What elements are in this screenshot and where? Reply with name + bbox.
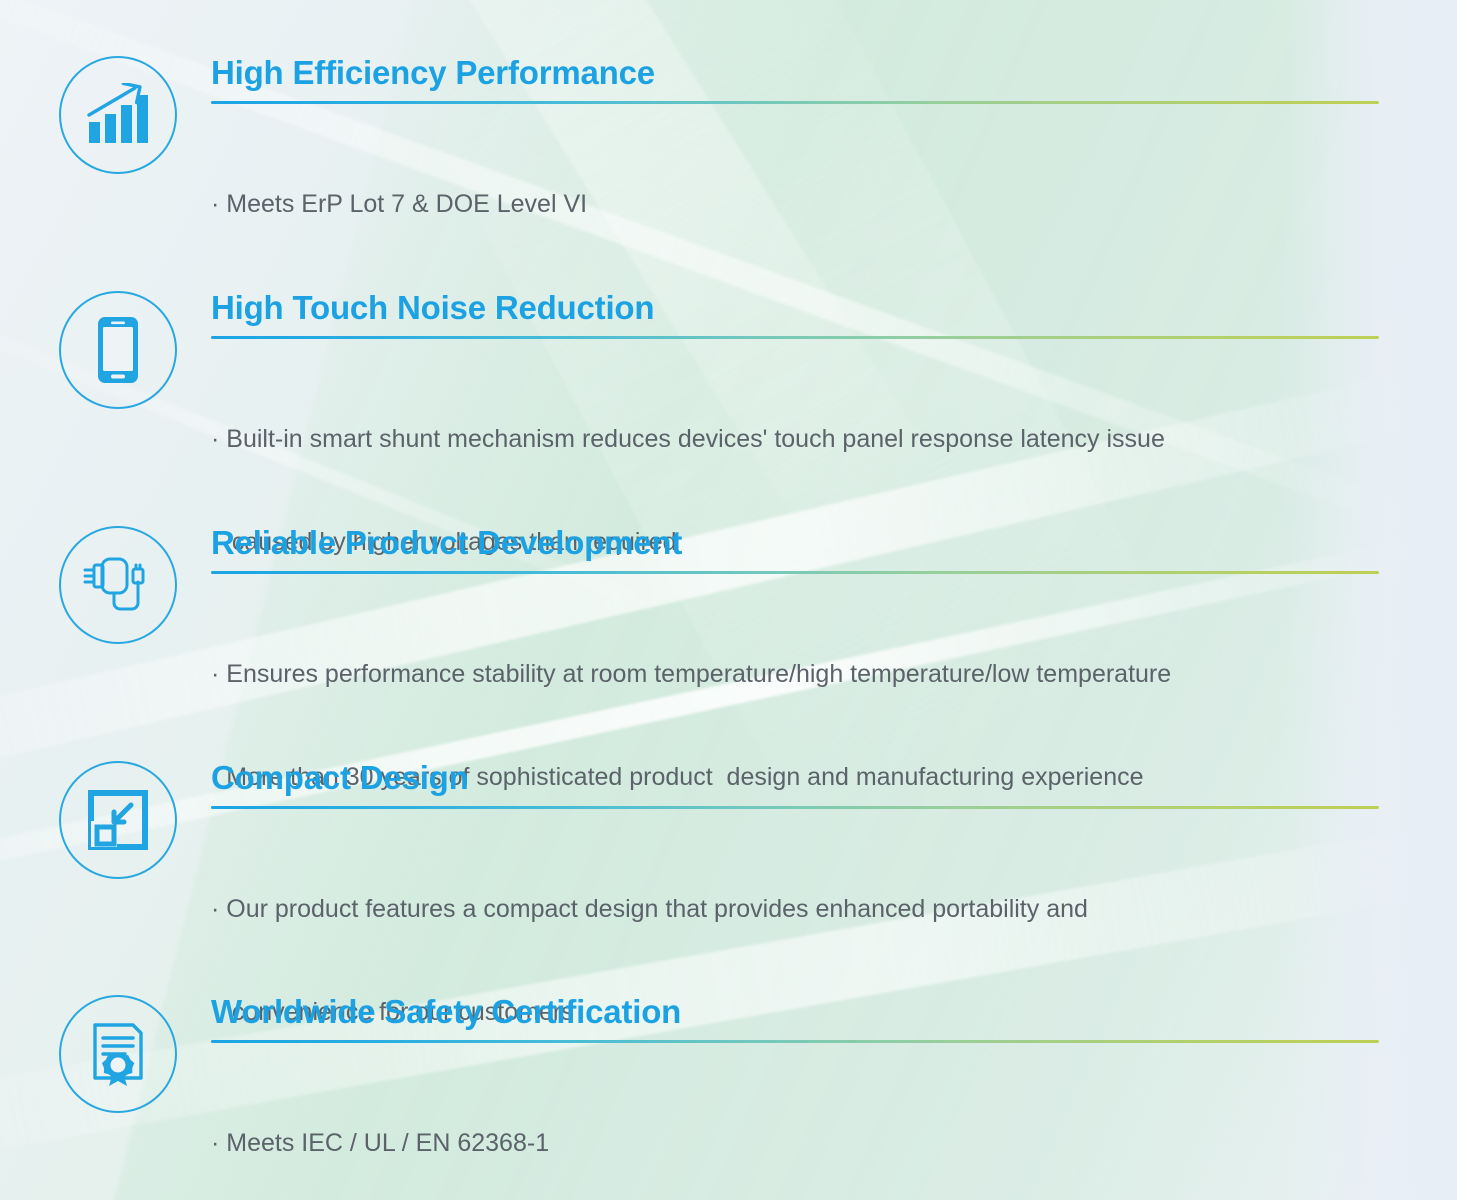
feature-text: Worldwide Safety Certification · Meets I… [211, 995, 1379, 1200]
feature-icon-wrap [59, 526, 177, 644]
feature-divider [211, 571, 1379, 574]
feature-divider [211, 1040, 1379, 1043]
feature-title: Worldwide Safety Certification [211, 995, 1379, 1030]
feature-divider [211, 806, 1379, 809]
feature-divider [211, 101, 1379, 104]
feature-body: · Meets ErP Lot 7 & DOE Level VI [211, 118, 1379, 291]
feature-body-line: · Meets IEC / UL / EN 62368-1 [211, 1126, 1379, 1161]
bar-chart-growth-icon [59, 56, 177, 174]
certificate-seal-icon [59, 995, 177, 1113]
feature-title: Compact Design [211, 761, 1379, 796]
feature-title: High Efficiency Performance [211, 56, 1379, 91]
feature-icon-wrap [59, 995, 177, 1113]
feature-body-line: · Our product features a compact design … [211, 892, 1379, 927]
feature-title: High Touch Noise Reduction [211, 291, 1379, 326]
feature-icon-wrap [59, 291, 177, 409]
feature-icon-wrap [59, 761, 177, 879]
feature-body-line: · Meets ErP Lot 7 & DOE Level VI [211, 187, 1379, 222]
feature-text: High Efficiency Performance · Meets ErP … [211, 56, 1379, 290]
feature-title: Reliable Product Development [211, 526, 1379, 561]
feature-list: High Efficiency Performance · Meets ErP … [0, 0, 1457, 1200]
feature-icon-wrap [59, 56, 177, 174]
feature-body: · Meets IEC / UL / EN 62368-1 [211, 1057, 1379, 1200]
feature-body-line: · Built-in smart shunt mechanism reduces… [211, 422, 1379, 457]
feature-body-line: · Ensures performance stability at room … [211, 657, 1379, 692]
feature-divider [211, 336, 1379, 339]
smartphone-icon [59, 291, 177, 409]
power-adapter-icon [59, 526, 177, 644]
compact-resize-icon [59, 761, 177, 879]
